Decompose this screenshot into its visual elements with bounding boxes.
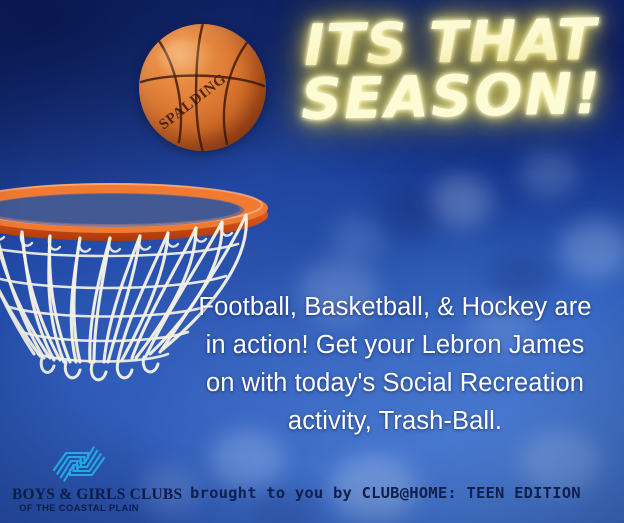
body-line: on with today's Social Recreation bbox=[176, 364, 614, 402]
basketball-highlight bbox=[159, 38, 215, 81]
poster-canvas: SPALDING bbox=[0, 0, 624, 523]
logo-chapter-name: OF THE COASTAL PLAIN bbox=[12, 503, 146, 514]
page-title: ITS THAT SEASON! bbox=[282, 12, 620, 129]
body-line: Football, Basketball, & Hockey are bbox=[176, 288, 614, 326]
tagline: brought to you by CLUB@HOME: TEEN EDITIO… bbox=[190, 484, 614, 502]
headline-line-2: SEASON! bbox=[283, 66, 620, 129]
body-copy: Football, Basketball, & Hockey are in ac… bbox=[176, 288, 614, 440]
body-line: in action! Get your Lebron James bbox=[176, 326, 614, 364]
logo-org-name: BOYS & GIRLS CLUBS bbox=[12, 486, 146, 504]
hoop-rim-icon bbox=[0, 183, 268, 241]
organization-logo: BOYS & GIRLS CLUBS OF THE COASTAL PLAIN bbox=[12, 443, 146, 513]
basketball-icon: SPALDING bbox=[139, 24, 266, 151]
body-line: activity, Trash-Ball. bbox=[176, 402, 614, 440]
interlocking-hands-icon bbox=[50, 443, 108, 485]
